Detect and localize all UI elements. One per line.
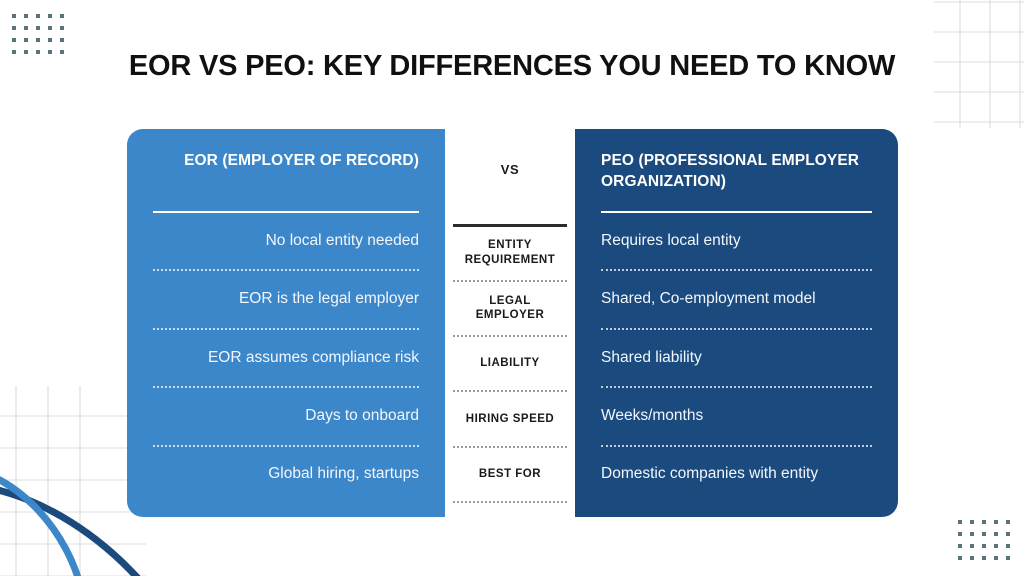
- peo-value: Shared, Co-employment model: [601, 289, 816, 310]
- vs-label: VS: [453, 151, 567, 198]
- table-row: BEST FOR: [453, 448, 567, 503]
- criteria-column: VS ENTITY REQUIREMENT LEGAL EMPLOYER LIA…: [445, 129, 575, 517]
- eor-panel: EOR (EMPLOYER OF RECORD) No local entity…: [127, 129, 445, 517]
- table-row: HIRING SPEED: [453, 392, 567, 447]
- criteria-rows: ENTITY REQUIREMENT LEGAL EMPLOYER LIABIL…: [453, 227, 567, 504]
- peo-heading: PEO (PROFESSIONAL EMPLOYER ORGANIZATION): [601, 151, 872, 198]
- line-grid-icon: [0, 386, 146, 576]
- criterion-label: HIRING SPEED: [466, 412, 554, 427]
- table-row: EOR assumes compliance risk: [153, 330, 419, 388]
- comparison-board: EOR (EMPLOYER OF RECORD) No local entity…: [127, 129, 898, 517]
- eor-value: No local entity needed: [266, 231, 419, 252]
- dot-grid-icon: [958, 520, 1018, 568]
- eor-value: EOR is the legal employer: [239, 289, 419, 310]
- table-row: Weeks/months: [601, 388, 872, 446]
- table-row: No local entity needed: [153, 213, 419, 271]
- peo-value: Domestic companies with entity: [601, 464, 818, 485]
- table-row: EOR is the legal employer: [153, 271, 419, 329]
- eor-rows: No local entity needed EOR is the legal …: [153, 213, 419, 503]
- table-row: Domestic companies with entity: [601, 447, 872, 503]
- eor-value: Days to onboard: [305, 406, 419, 427]
- slide-canvas: EOR VS PEO: KEY DIFFERENCES YOU NEED TO …: [0, 0, 1024, 576]
- criterion-label: LEGAL EMPLOYER: [459, 294, 561, 324]
- table-row: Requires local entity: [601, 213, 872, 271]
- table-row: Global hiring, startups: [153, 447, 419, 503]
- table-row: LEGAL EMPLOYER: [453, 282, 567, 337]
- peo-value: Weeks/months: [601, 406, 703, 427]
- page-title: EOR VS PEO: KEY DIFFERENCES YOU NEED TO …: [0, 50, 1024, 83]
- peo-value: Requires local entity: [601, 231, 741, 252]
- table-row: Shared liability: [601, 330, 872, 388]
- table-row: Days to onboard: [153, 388, 419, 446]
- peo-value: Shared liability: [601, 348, 702, 369]
- criterion-label: BEST FOR: [479, 467, 541, 482]
- peo-rows: Requires local entity Shared, Co-employm…: [601, 213, 872, 503]
- eor-heading: EOR (EMPLOYER OF RECORD): [153, 151, 419, 198]
- eor-value: Global hiring, startups: [268, 464, 419, 485]
- peo-panel: PEO (PROFESSIONAL EMPLOYER ORGANIZATION)…: [575, 129, 898, 517]
- table-row: Shared, Co-employment model: [601, 271, 872, 329]
- criterion-label: ENTITY REQUIREMENT: [459, 238, 561, 268]
- eor-value: EOR assumes compliance risk: [208, 348, 419, 369]
- table-row: LIABILITY: [453, 337, 567, 392]
- table-row: ENTITY REQUIREMENT: [453, 227, 567, 282]
- criterion-label: LIABILITY: [480, 356, 539, 371]
